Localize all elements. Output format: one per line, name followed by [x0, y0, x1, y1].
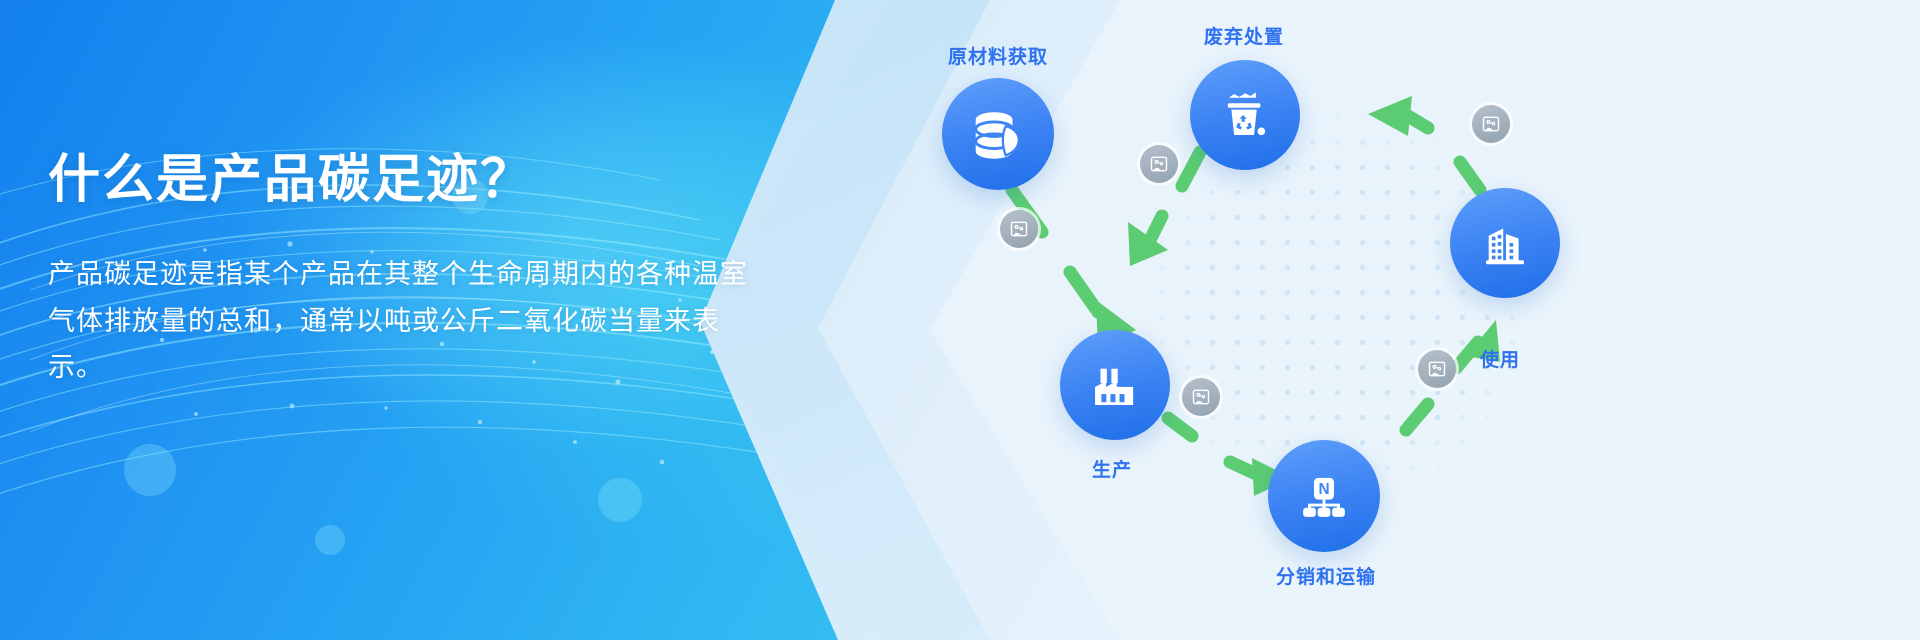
hero-copy-block: 什么是产品碳足迹？ 产品碳足迹是指某个产品在其整个生命周期内的各种温室气体排放量… — [48, 150, 808, 391]
lifecycle-arrows-layer — [900, 0, 1920, 640]
page-title: 什么是产品碳足迹？ — [48, 150, 808, 211]
node-production-circle[interactable] — [1060, 330, 1170, 440]
svg-text:N: N — [1318, 481, 1329, 498]
broken-image-icon — [1149, 154, 1169, 174]
node-usage-circle[interactable] — [1450, 188, 1560, 298]
broken-image-icon — [1427, 359, 1447, 379]
badge-arrow-production-to-distribution[interactable] — [1182, 378, 1220, 416]
node-production-label: 生产 — [1092, 455, 1132, 482]
arrow-usage-to-waste — [1368, 96, 1480, 190]
factory-icon — [1086, 356, 1144, 414]
hero-description: 产品碳足迹是指某个产品在其整个生命周期内的各种温室气体排放量的总和，通常以吨或公… — [48, 251, 748, 390]
broken-image-icon — [1191, 387, 1211, 407]
broken-image-icon — [1481, 114, 1501, 134]
node-distribution-circle[interactable]: N — [1268, 440, 1380, 552]
node-distribution-label: 分销和运输 — [1276, 562, 1376, 589]
node-waste-disposal-circle[interactable] — [1190, 60, 1300, 170]
banner-stage: 什么是产品碳足迹？ 产品碳足迹是指某个产品在其整个生命周期内的各种温室气体排放量… — [0, 0, 1920, 640]
lifecycle-diagram: 原材料获取 废弃处置 — [900, 0, 1920, 640]
node-usage-label: 使用 — [1480, 345, 1520, 372]
node-raw-material-circle[interactable] — [942, 78, 1054, 190]
badge-arrow-waste-to-raw[interactable] — [1140, 145, 1178, 183]
badge-arrow-distribution-to-usage[interactable] — [1418, 350, 1456, 388]
badge-arrow-usage-to-waste[interactable] — [1472, 105, 1510, 143]
badge-arrow-raw-to-production[interactable] — [1000, 210, 1038, 248]
database-leaf-icon — [967, 103, 1029, 165]
node-raw-material-label: 原材料获取 — [948, 42, 1048, 69]
buildings-icon — [1476, 214, 1534, 272]
recycle-bin-icon — [1216, 86, 1274, 144]
broken-image-icon — [1009, 219, 1029, 239]
node-waste-disposal-label: 废弃处置 — [1204, 22, 1284, 49]
network-node-icon: N — [1295, 467, 1353, 525]
